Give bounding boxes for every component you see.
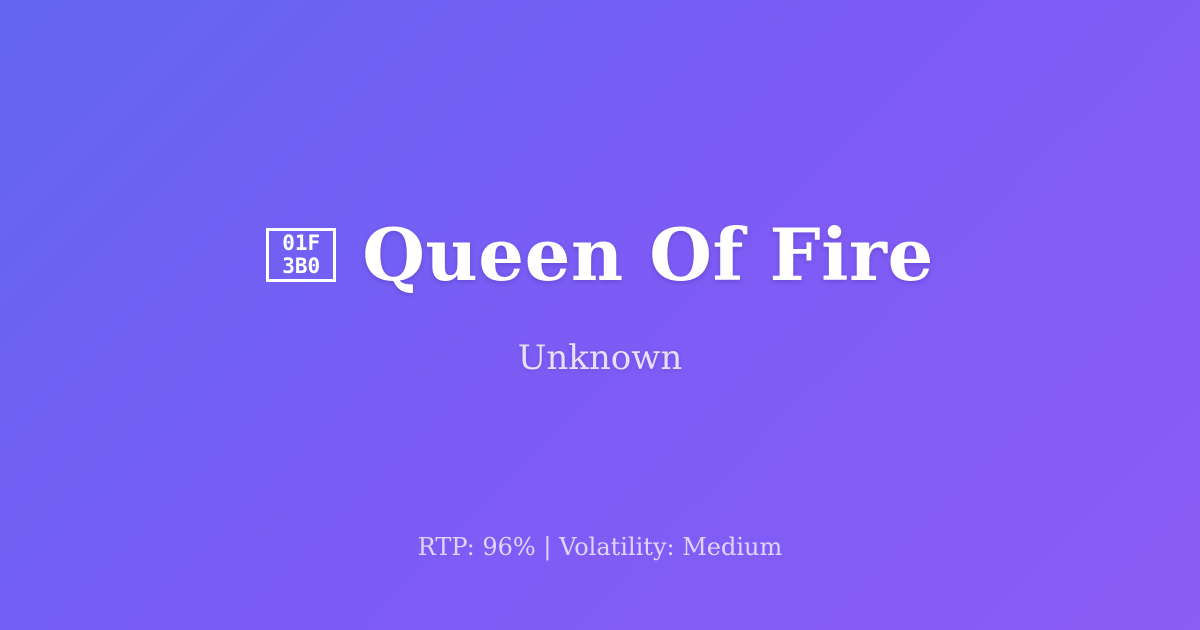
tofu-codepoint-bottom: 3B0 [282,255,320,278]
slot-machine-icon: 01F 3B0 [266,228,336,282]
page-subtitle: Unknown [518,338,683,379]
tofu-codepoint-top: 01F [282,232,320,255]
game-meta-line: RTP: 96% | Volatility: Medium [0,533,1200,562]
hero-row: 01F 3B0 Queen Of Fire [266,217,934,293]
og-card: 01F 3B0 Queen Of Fire Unknown RTP: 96% |… [0,0,1200,630]
page-title: Queen Of Fire [362,217,934,293]
